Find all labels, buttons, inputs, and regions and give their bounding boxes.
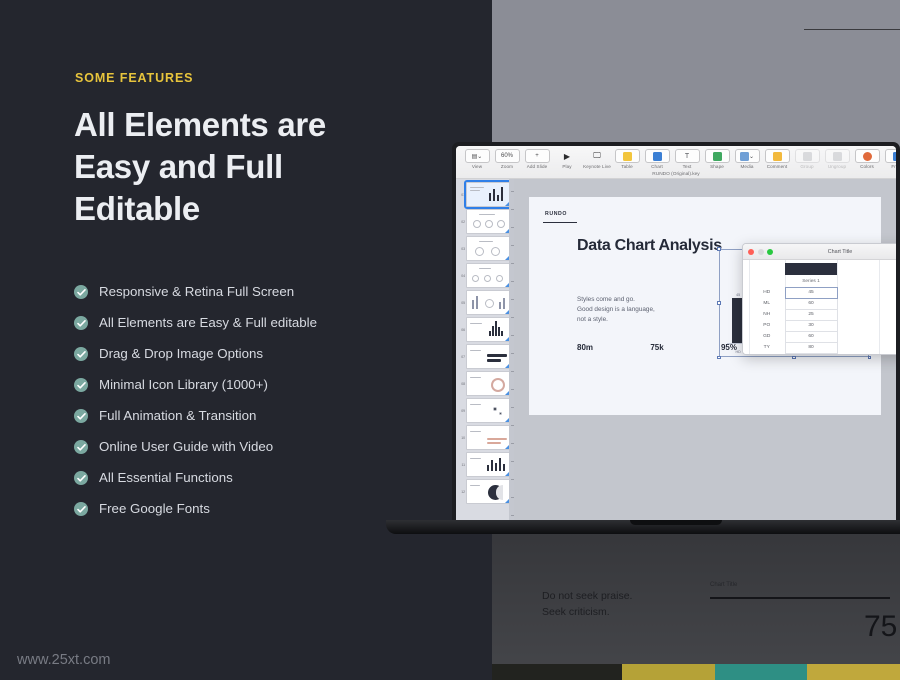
slide-number: 02 [458,220,465,224]
slide-thumbnail[interactable] [466,182,512,207]
toolbar-add-slide-button[interactable]: + Add Slide [522,149,552,169]
chart-data-title: Chart Title [743,249,896,255]
toolbar-media-label: Media [732,164,762,169]
check-icon [74,440,88,454]
laptop-notch [630,520,722,525]
page-title: All Elements are Easy and Full Editable [74,104,404,230]
feature-label: Full Animation & Transition [99,408,256,423]
slide-thumbnail[interactable] [466,479,512,504]
plus-icon: + [525,149,550,163]
slide-quote-line3: not a style. [577,315,655,325]
background-quote-line1: Do not seek praise. [542,588,632,604]
text-icon: T [675,149,700,163]
chart-data-window[interactable]: Chart Title [742,243,896,355]
toolbar-play-label: Play [552,164,582,169]
toolbar-zoom-label: Zoom [492,164,522,169]
front-icon [885,149,897,163]
slide-title[interactable]: Data Chart Analysis [577,235,737,256]
background-bottom-strip [492,664,900,680]
slide-number: 07 [458,355,465,359]
slide-thumbnail-row[interactable]: 08 [458,371,512,396]
slide-thumbnail[interactable] [466,371,512,396]
feature-label: Responsive & Retina Full Screen [99,284,294,299]
laptop-base [386,520,900,534]
check-icon [74,378,88,392]
slide-thumbnail[interactable] [466,398,512,423]
background-quote-line2: Seek criticism. [542,604,632,620]
slide-thumbnail-row[interactable]: 05 [458,290,512,315]
toolbar-front-button[interactable]: Front [882,149,896,169]
slide-quote[interactable]: Styles come and go. Good design is a lan… [577,295,655,325]
view-icon: ▤⌄ [465,149,490,163]
shape-icon [705,149,730,163]
chart-data-table[interactable]: Series 1 HD 45 [749,276,896,354]
background-rule [804,29,900,30]
slide-number: 05 [458,301,465,305]
slide-thumbnail[interactable] [466,263,512,288]
background-quote: Do not seek praise. Seek criticism. [542,588,632,620]
slide-number: 01 [458,193,465,197]
feature-label: All Elements are Easy & Full editable [99,315,317,330]
slide-stats: 80m 75k 95% [577,343,737,352]
toolbar-text-button[interactable]: T Text [672,149,702,169]
list-item: Free Google Fonts [74,493,317,524]
slide-logo: RUNDO [545,211,567,217]
toolbar-front-label: Front [882,164,896,169]
toolbar-zoom-button[interactable]: 60% Zoom [492,149,522,169]
row-label[interactable]: GD [749,331,785,342]
series-header[interactable]: Series 1 [785,276,837,287]
feature-label: Online User Guide with Video [99,439,273,454]
cell-value[interactable]: 60 [785,298,837,309]
toolbar-media-button[interactable]: ⌄ Media [732,149,762,169]
slide-thumbnail[interactable] [466,344,512,369]
table-row: ML 60 [749,298,896,309]
ungroup-icon [825,149,850,163]
slide-number: 03 [458,247,465,251]
list-item: Online User Guide with Video [74,431,317,462]
media-icon: ⌄ [735,149,760,163]
slide-thumbnail-row[interactable]: 06 [458,317,512,342]
resize-handle-br[interactable] [868,356,872,360]
keynote-live-icon: 🖵 [585,149,610,163]
slide-thumbnail-row[interactable]: 01 [458,182,512,207]
selected-column-header[interactable] [785,263,837,275]
toolbar-keynote-live-button[interactable]: 🖵 Keynote Live [582,149,612,169]
slide-quote-line2: Good design is a language, [577,305,655,315]
table-row: HD 45 [749,287,896,298]
keynote-toolbar: ▤⌄ View 60% Zoom + Add Slide [456,146,896,179]
row-label[interactable]: PO [749,320,785,331]
laptop-lid: ▤⌄ View 60% Zoom + Add Slide [452,142,900,528]
table-row: NH 25 [749,309,896,320]
slide-thumbnail-row[interactable]: 07 [458,344,512,369]
slide-number: 04 [458,274,465,278]
table-icon [615,149,640,163]
toolbar-insert-group: Table Chart T Text Shape [612,149,896,169]
table-header-row: Series 1 [749,276,896,287]
list-item: Minimal Icon Library (1000+) [74,369,317,400]
watermark: www.25xt.com [17,652,110,668]
toolbar-play-button[interactable]: ▶ Play [552,149,582,169]
toolbar-play-group: ▶ Play 🖵 Keynote Live [552,149,612,169]
slide-stat-1: 80m [577,343,593,352]
bar-value: 45 [736,293,740,297]
check-icon [74,409,88,423]
slide-navigator[interactable]: 01 02 [456,179,514,528]
slide-thumbnail[interactable] [466,425,512,450]
feature-list: Responsive & Retina Full Screen All Elem… [74,276,317,524]
slide-number: 06 [458,328,465,332]
keynote-window: ▤⌄ View 60% Zoom + Add Slide [456,146,896,528]
slide-thumbnail-row[interactable]: 11 [458,452,512,477]
row-label[interactable]: NH [749,309,785,320]
left-content-panel: SOME FEATURES All Elements are Easy and … [0,0,492,680]
toolbar-view-label: View [462,164,492,169]
check-icon [74,316,88,330]
slide-thumbnail-row[interactable]: 09 [458,398,512,423]
toolbar-group-label: Group [792,164,822,169]
slide-thumbnail[interactable] [466,209,512,234]
slide-stat-2: 75k [650,343,663,352]
zoom-value: 60% [495,149,520,163]
cell-value[interactable]: 45 [785,287,837,298]
toolbar-table-label: Table [612,164,642,169]
table-row: GD 60 [749,331,896,342]
table-row: PO 30 [749,320,896,331]
row-label[interactable]: ML [749,298,785,309]
corner-cell [749,276,785,287]
list-item: All Elements are Easy & Full editable [74,307,317,338]
table-row: TY 80 [749,342,896,353]
feature-label: Drag & Drop Image Options [99,346,263,361]
slide-thumbnail-row[interactable]: 10 [458,425,512,450]
background-small-label: Chart Title [710,582,737,588]
background-page-number: 75 [864,610,897,644]
slide-thumbnail-row[interactable]: 04 [458,263,512,288]
play-icon: ▶ [555,149,580,163]
slide-quote-line1: Styles come and go. [577,295,655,305]
slide-thumbnail[interactable] [466,290,512,315]
cell-value[interactable]: 80 [785,342,837,353]
chart-data-body: Series 1 HD 45 [743,260,896,355]
slide-number: 11 [458,463,465,467]
toolbar-ungroup-label: Ungroup [822,164,852,169]
toolbar-chart-label: Chart [642,164,672,169]
check-icon [74,471,88,485]
toolbar-chart-button[interactable]: Chart [642,149,672,169]
comment-icon [765,149,790,163]
toolbar-comment-label: Comment [762,164,792,169]
toolbar-table-button[interactable]: Table [612,149,642,169]
list-item: Responsive & Retina Full Screen [74,276,317,307]
row-label[interactable]: HD [749,287,785,298]
toolbar-group-button[interactable]: Group [792,149,822,169]
row-label[interactable]: TY [749,342,785,353]
laptop-mockup: ▤⌄ View 60% Zoom + Add Slide [452,142,900,542]
toolbar-add-slide-label: Add Slide [522,164,552,169]
cell-value[interactable]: 25 [785,309,837,320]
toolbar-colors-button[interactable]: Colors [852,149,882,169]
check-icon [74,285,88,299]
toolbar-view-button[interactable]: ▤⌄ View [462,149,492,169]
toolbar-left-group: ▤⌄ View 60% Zoom + Add Slide [462,149,552,169]
slide-thumbnail-row[interactable]: 03 [458,236,512,261]
screenshot-root: Study Do not seek praise. Seek criticism… [0,0,900,680]
resize-handle-tl[interactable] [717,247,721,251]
slide-thumbnail[interactable] [466,317,512,342]
list-item: Drag & Drop Image Options [74,338,317,369]
toolbar-colors-label: Colors [852,164,882,169]
check-icon [74,347,88,361]
group-icon [795,149,820,163]
keynote-editor: 01 02 [456,179,896,528]
toolbar-text-label: Text [672,164,702,169]
cell-value[interactable]: 60 [785,331,837,342]
slide-thumbnail-row[interactable]: 02 [458,209,512,234]
feature-label: All Essential Functions [99,470,233,485]
eyebrow-label: SOME FEATURES [75,71,193,85]
slide-number: 12 [458,490,465,494]
cell-value[interactable]: 30 [785,320,837,331]
slide-number: 10 [458,436,465,440]
background-divider [710,597,890,599]
toolbar-shape-button[interactable]: Shape [702,149,732,169]
slide-thumbnail[interactable] [466,452,512,477]
document-title: RUNDO (Original).key [456,172,896,177]
feature-label: Minimal Icon Library (1000+) [99,377,268,392]
colors-icon [855,149,880,163]
toolbar-keynote-live-label: Keynote Live [582,164,612,169]
resize-handle-ml[interactable] [717,301,721,305]
chart-data-titlebar[interactable]: Chart Title [743,244,896,260]
resize-handle-bc[interactable] [792,356,796,360]
list-item: Full Animation & Transition [74,400,317,431]
toolbar-ungroup-button[interactable]: Ungroup [822,149,852,169]
toolbar-shape-label: Shape [702,164,732,169]
toolbar-comment-button[interactable]: Comment [762,149,792,169]
resize-handle-bl[interactable] [717,356,721,360]
slide-logo-underline [543,222,577,223]
slide-canvas-area: RUNDO Data Chart Analysis Styles come an… [514,179,896,528]
slide-number: 08 [458,382,465,386]
slide-thumbnail-row[interactable]: 12 [458,479,512,504]
slide-number: 09 [458,409,465,413]
list-item: All Essential Functions [74,462,317,493]
slide-thumbnail[interactable] [466,236,512,261]
feature-label: Free Google Fonts [99,501,210,516]
check-icon [74,502,88,516]
chart-icon [645,149,670,163]
